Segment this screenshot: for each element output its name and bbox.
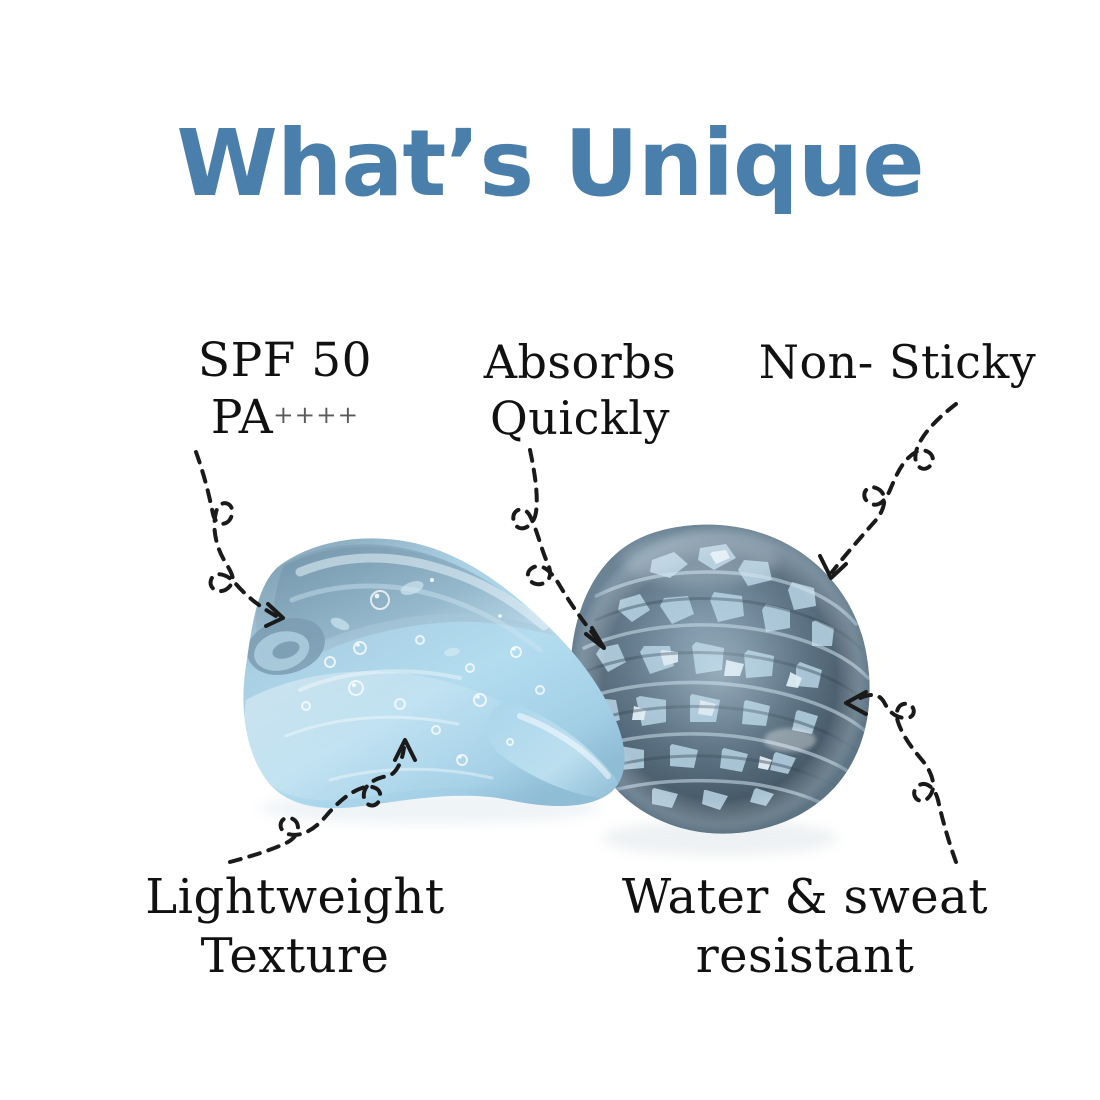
connector-arrows: [196, 404, 956, 862]
icy-textured-sphere: [571, 525, 870, 856]
arrow-lightweight: [230, 740, 415, 862]
blue-gel-swatch: [243, 538, 624, 824]
arrow-absorbs: [513, 450, 604, 648]
arrow-non-sticky: [820, 404, 956, 578]
feature-label-spf-line1: SPF 50: [198, 333, 372, 388]
page-title: What’s Unique: [0, 118, 1100, 210]
feature-label-non-sticky: Non- Sticky: [745, 334, 1050, 390]
feature-label-water-sweat: Water & sweat resistant: [605, 868, 1005, 985]
feature-label-spf-superscript: ++++: [273, 400, 359, 429]
feature-label-spf-line2: PA: [211, 390, 273, 445]
poster-canvas: What’s Unique: [0, 0, 1100, 1100]
feature-label-spf: SPF 50PA++++: [150, 332, 420, 447]
feature-label-lightweight: Lightweight Texture: [135, 868, 455, 985]
feature-label-absorbs: Absorbs Quickly: [455, 334, 705, 446]
arrow-spf: [196, 452, 283, 626]
arrow-water-sweat: [846, 692, 956, 862]
